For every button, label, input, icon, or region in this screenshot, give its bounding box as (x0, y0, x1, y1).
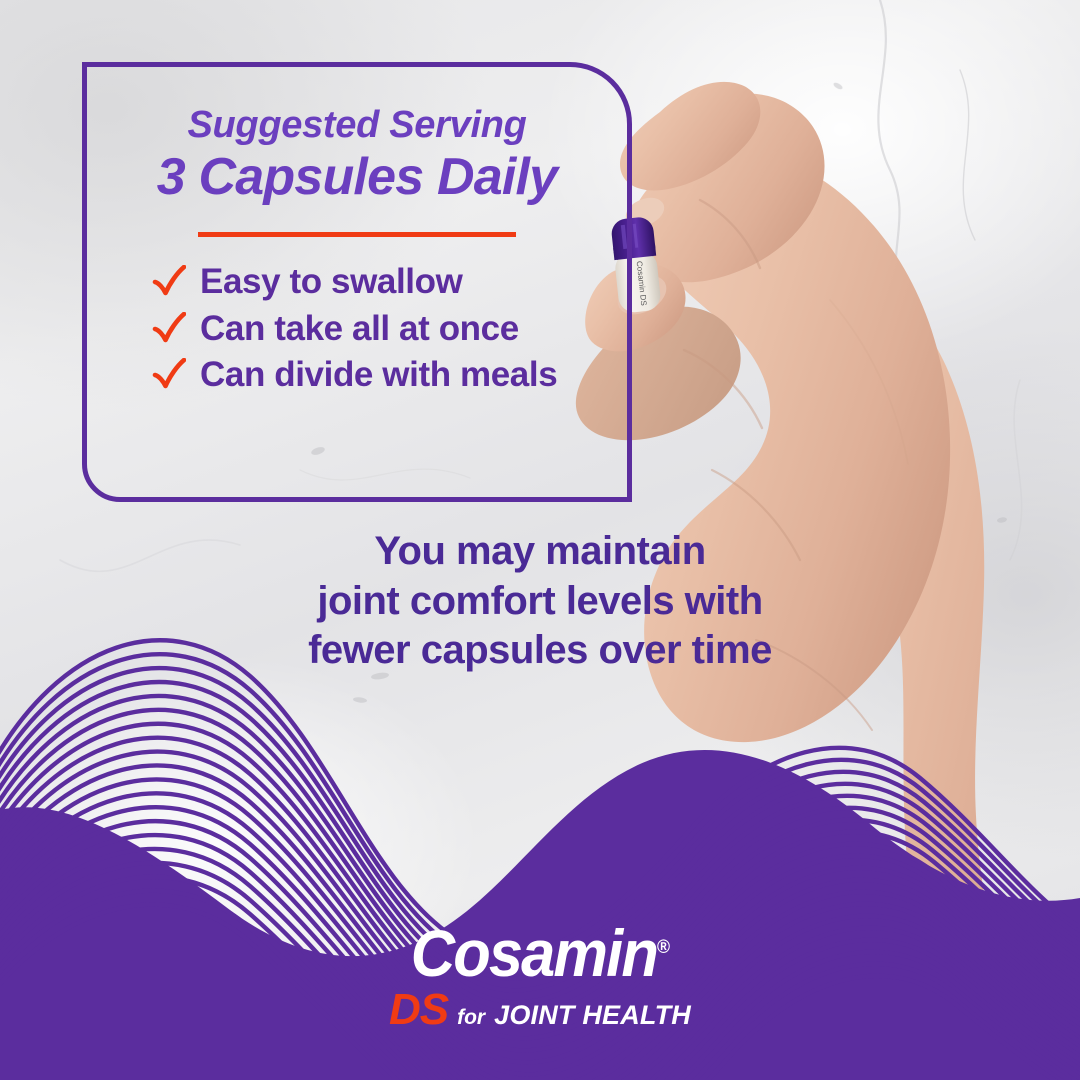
serving-amount: 3 Capsules Daily (110, 148, 604, 206)
list-item: Can take all at once (152, 310, 604, 349)
check-icon (152, 312, 186, 346)
benefit-label: Can divide with meals (200, 356, 557, 395)
check-icon (152, 265, 186, 299)
benefit-label: Easy to swallow (200, 263, 462, 302)
product-poster: Cosamin DS Suggested Serving 3 Capsules … (0, 0, 1080, 1080)
benefits-list: Easy to swallow Can take all at once Can… (110, 263, 604, 395)
list-item: Can divide with meals (152, 356, 604, 395)
tagline-line: You may maintain (270, 527, 810, 577)
logo-subline: DS for JOINT HEALTH (0, 988, 1080, 1032)
suggested-serving-content: Suggested Serving 3 Capsules Daily Easy … (82, 62, 632, 502)
brand-logo: Cosamin® DS for JOINT HEALTH (0, 920, 1080, 1032)
benefit-label: Can take all at once (200, 310, 519, 349)
logo-ds-text: DS (389, 988, 448, 1032)
list-item: Easy to swallow (152, 263, 604, 302)
serving-label: Suggested Serving (110, 106, 604, 144)
logo-category-text: JOINT HEALTH (494, 1002, 691, 1029)
registered-trademark-icon: ® (657, 937, 670, 958)
accent-divider (198, 232, 516, 237)
logo-wordmark: Cosamin® (410, 920, 669, 986)
check-icon (152, 358, 186, 392)
logo-wordmark-text: Cosamin (410, 916, 656, 990)
logo-for-text: for (457, 1007, 485, 1028)
